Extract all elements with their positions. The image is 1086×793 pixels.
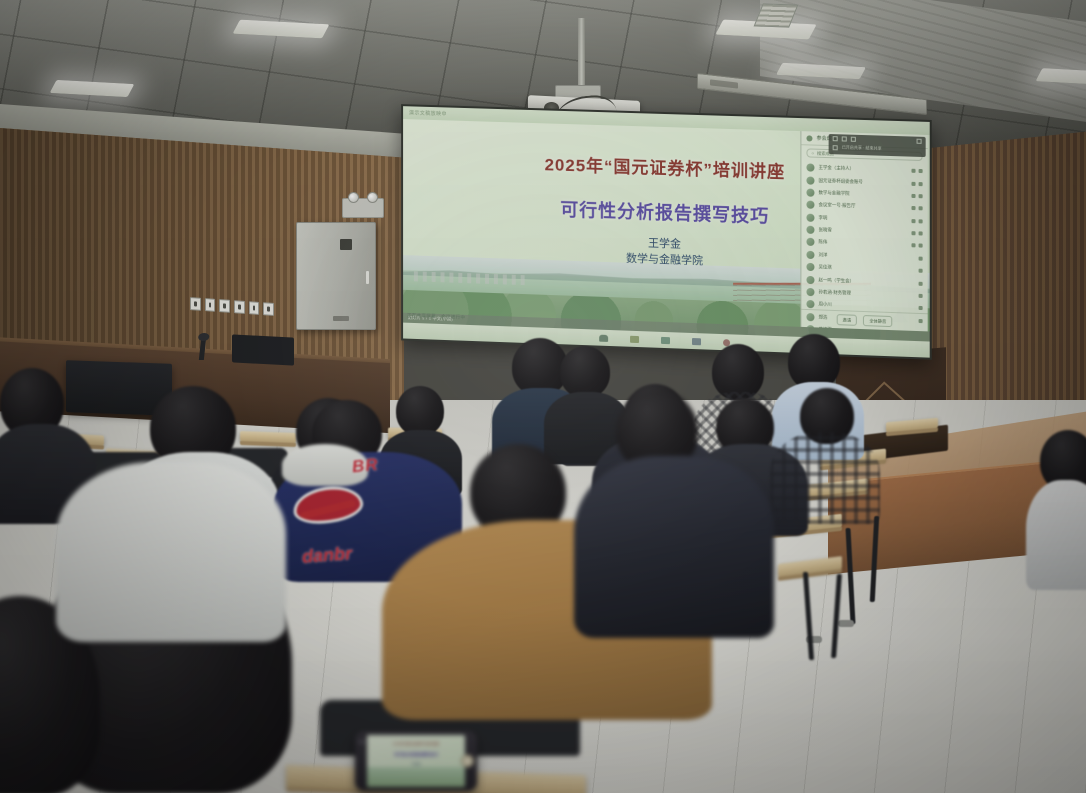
member-status-icons <box>911 231 922 235</box>
participant-list[interactable]: 王学金（主持人） 国元证券杯组委会账号 数学与金融学院 会议室一号·报告厅 李明… <box>801 160 927 331</box>
desk-mid-2 <box>240 431 296 443</box>
member-status-icons <box>919 281 923 285</box>
cabinet-label-plate <box>333 316 349 321</box>
projection-screen: 演示文稿放映中 2025年“国元证券杯”培训讲座 可行性分析报告撰写技巧 王学金… <box>401 104 932 360</box>
torso-plaid <box>770 432 880 524</box>
avatar <box>806 275 814 283</box>
camera-lens-icon <box>358 740 366 744</box>
avatar <box>806 263 814 271</box>
menu-icon[interactable] <box>917 139 922 144</box>
member-status-icons <box>911 244 922 248</box>
torso <box>1026 480 1086 590</box>
varsity-back-text: danbr <box>301 543 352 567</box>
white-jacket <box>56 462 286 642</box>
phone-campus-photo <box>367 767 465 787</box>
member-status-icons <box>919 256 923 260</box>
mic-icon <box>911 181 915 185</box>
projected-slide: 演示文稿放映中 2025年“国元证券杯”培训讲座 可行性分析报告撰写技巧 王学金… <box>403 106 930 357</box>
mute-all-button[interactable]: 全体静音 <box>863 315 892 327</box>
recording-phone[interactable]: 2025年“国元证券杯”培训讲座 可行性分析报告撰写技巧 王学金 <box>355 731 477 791</box>
phone-slide-presenter: 王学金 <box>367 762 465 766</box>
avatar <box>806 164 814 172</box>
participant-panel[interactable]: 参会成员 ○ 搜索成员 王学金（主持人） 国元证券杯组委会账号 数学与金融学院 … <box>800 131 927 331</box>
chair-foot-right-1 <box>838 620 854 627</box>
app-top-label: 演示文稿放映中 <box>409 109 447 117</box>
mic-icon <box>911 206 915 210</box>
head <box>396 386 444 436</box>
podium-secondary-display <box>232 334 294 365</box>
people-icon <box>806 135 812 141</box>
wall-switch-1[interactable] <box>190 297 201 311</box>
wall-switch-3[interactable] <box>219 299 230 313</box>
wall-switch-5[interactable] <box>249 301 260 315</box>
camera-icon[interactable] <box>630 335 639 342</box>
invite-button[interactable]: 邀请 <box>837 314 858 326</box>
mic-icon <box>919 294 923 298</box>
member-status-icons <box>911 181 922 185</box>
toolbar-row-bottom: 已开启共享 · 结束共享 <box>833 144 922 153</box>
camera-icon <box>919 244 923 248</box>
member-status-icons <box>919 306 923 310</box>
torso <box>574 456 774 638</box>
member-status-icons <box>911 169 922 173</box>
mic-icon <box>911 194 915 198</box>
member-status-icons <box>911 194 922 198</box>
avatar <box>806 188 814 196</box>
layout-icon[interactable] <box>851 137 856 142</box>
more-icon[interactable] <box>692 337 701 344</box>
share-icon[interactable] <box>661 336 670 343</box>
mic-icon <box>911 244 915 248</box>
camera-icon <box>919 169 923 173</box>
wall-switch-6[interactable] <box>263 302 274 316</box>
maximize-icon[interactable] <box>842 136 847 141</box>
avatar <box>806 251 814 259</box>
mic-icon <box>919 281 923 285</box>
lecture-hall-photo: 演示文稿放映中 2025年“国元证券杯”培训讲座 可行性分析报告撰写技巧 王学金… <box>0 0 1086 793</box>
mic-icon <box>911 219 915 223</box>
camera-icon <box>919 194 923 198</box>
search-icon: ○ <box>811 151 814 156</box>
toolbar-sub-label: 已开启共享 · 结束共享 <box>842 144 882 151</box>
phone-slide-title: 2025年“国元证券杯”培训讲座 <box>367 742 465 747</box>
avatar <box>806 201 814 209</box>
share-control-toolbar[interactable]: 已开启共享 · 结束共享 <box>829 134 926 157</box>
toolbar-row-top <box>833 136 922 144</box>
avatar <box>806 288 814 296</box>
mic-icon[interactable] <box>599 334 608 341</box>
head <box>560 346 610 398</box>
housing-label <box>710 79 738 88</box>
cabinet-vent-icon <box>340 239 352 250</box>
camera-icon <box>919 231 923 235</box>
avatar <box>806 238 814 246</box>
emergency-light <box>342 198 384 218</box>
record-button[interactable] <box>461 755 474 768</box>
share-screen-icon[interactable] <box>833 145 838 150</box>
avatar <box>806 300 814 308</box>
member-status-icons <box>919 269 923 273</box>
cabinet-latch-icon <box>366 271 369 284</box>
avatar <box>806 226 814 234</box>
projector-mount-rod <box>578 18 585 88</box>
camera-icon <box>919 219 923 223</box>
emergency-bulb-left <box>348 192 359 203</box>
mic-icon <box>919 306 923 310</box>
wall-switch-2[interactable] <box>205 298 216 312</box>
avatar <box>806 213 814 221</box>
minimize-icon[interactable] <box>833 136 838 141</box>
phone-slide-subtitle: 可行性分析报告撰写技巧 <box>367 752 465 758</box>
mic-icon <box>911 169 915 173</box>
mic-icon <box>911 231 915 235</box>
camera-icon <box>919 207 923 211</box>
avatar <box>806 176 814 184</box>
wall-switch-4[interactable] <box>234 300 245 314</box>
varsity-shoulder-text: BR <box>351 455 380 478</box>
member-status-icons <box>919 294 923 298</box>
phone-screen: 2025年“国元证券杯”培训讲座 可行性分析报告撰写技巧 王学金 <box>367 735 465 787</box>
electrical-cabinet <box>296 222 376 330</box>
camera-icon <box>919 182 923 186</box>
member-status-icons <box>911 206 922 210</box>
member-status-icons <box>911 219 922 223</box>
mic-icon <box>919 256 923 260</box>
mic-icon <box>919 269 923 273</box>
emergency-bulb-right <box>367 192 378 203</box>
